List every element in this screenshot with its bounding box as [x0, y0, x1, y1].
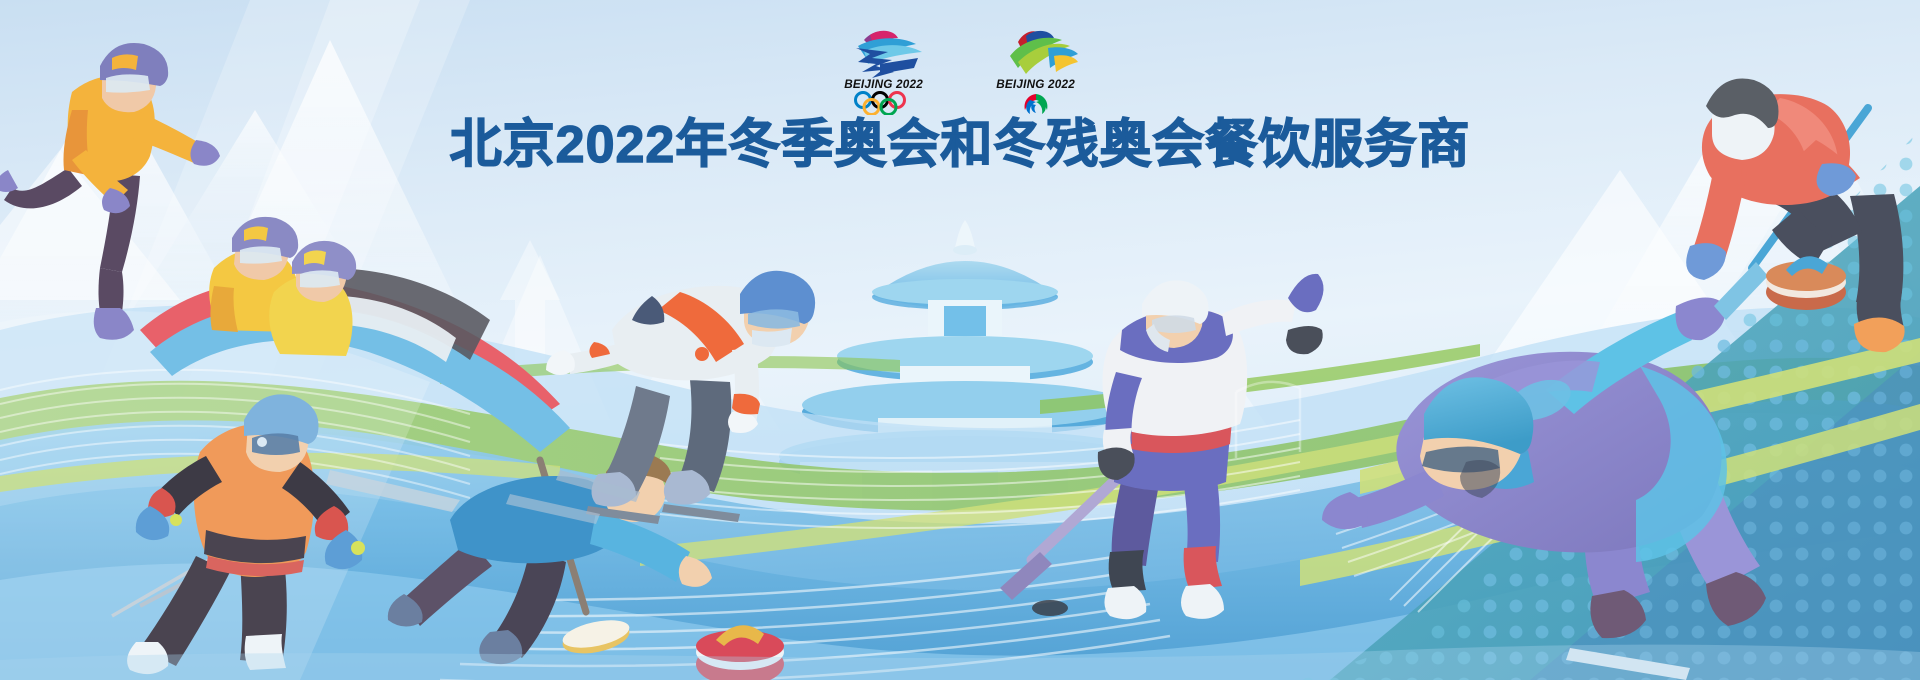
olympic-rings-icon	[851, 91, 917, 115]
olympics-catering-banner: BEIJING 2022 BEIJING 20	[0, 0, 1920, 680]
paralympic-wordmark: BEIJING 2022	[997, 79, 1076, 91]
paralympic-swoosh-icon	[988, 26, 1084, 78]
olympic-wordmark: BEIJING 2022	[845, 79, 924, 91]
paralympic-emblem: BEIJING 2022	[986, 26, 1086, 115]
hockey-puck	[1032, 600, 1068, 616]
emblem-row: BEIJING 2022 BEIJING 20	[0, 26, 1920, 115]
olympic-emblem: BEIJING 2022	[834, 26, 934, 115]
olympic-swoosh-icon	[836, 26, 932, 78]
banner-title: 北京2022年冬季奥会和冬残奥会餐饮服务商	[0, 117, 1920, 174]
agitos-icon	[1010, 91, 1062, 115]
